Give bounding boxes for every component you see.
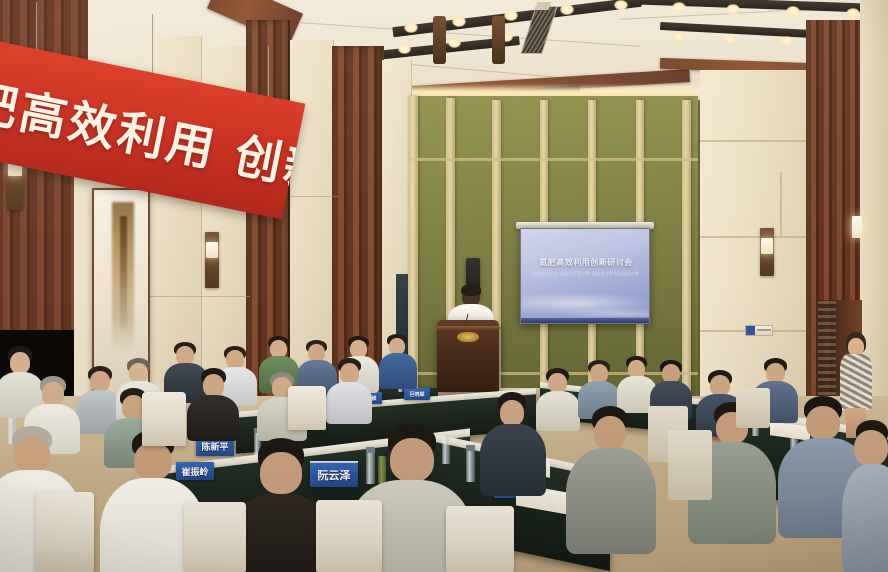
attendee-head bbox=[203, 374, 224, 397]
slide-subtitle: 中国农业大学 资源与环境学院 国家农业绿色发展研究院 bbox=[521, 271, 650, 277]
attendee-head bbox=[500, 400, 524, 426]
attendee-head bbox=[260, 452, 302, 494]
downlight bbox=[504, 10, 518, 21]
slide-wave-graphic bbox=[520, 283, 650, 317]
placard-name: 巨晓棠 bbox=[409, 391, 424, 398]
downlight bbox=[846, 8, 860, 19]
banner-rope bbox=[152, 14, 153, 76]
stone-seam bbox=[780, 172, 782, 238]
attendee-head bbox=[390, 438, 434, 482]
attendee-head bbox=[766, 363, 785, 383]
attendee-head bbox=[340, 363, 359, 384]
attendee-torso bbox=[187, 395, 239, 441]
downlight bbox=[448, 38, 461, 48]
attendee-head bbox=[134, 442, 172, 480]
slide-bottom-bar bbox=[521, 318, 650, 323]
speaker-hair bbox=[461, 284, 481, 296]
air-vent-frame bbox=[535, 2, 552, 10]
attendee bbox=[620, 356, 654, 412]
attendee-foreground bbox=[848, 420, 888, 572]
attendee-head bbox=[806, 406, 840, 440]
attendee-head bbox=[90, 371, 110, 392]
attendee bbox=[382, 334, 414, 388]
attendee-torso bbox=[480, 424, 546, 496]
downlight bbox=[404, 22, 418, 33]
slide-title: 氮肥高效利用创新研讨会 bbox=[521, 257, 650, 268]
stone-seam bbox=[700, 236, 808, 238]
projection-screen: 氮肥高效利用创新研讨会 中国农业大学 资源与环境学院 国家农业绿色发展研究院 2… bbox=[520, 228, 650, 324]
attendee-head bbox=[854, 430, 888, 466]
wall-sconce-plate bbox=[205, 232, 219, 288]
downlight bbox=[672, 32, 685, 42]
attendee-foreground bbox=[236, 438, 322, 572]
attendee bbox=[486, 392, 538, 492]
downlight bbox=[724, 34, 737, 44]
downlight bbox=[726, 4, 740, 15]
chair bbox=[184, 502, 246, 572]
wall-rib bbox=[682, 100, 691, 396]
attendee-head bbox=[129, 363, 148, 383]
attendee-torso bbox=[536, 391, 580, 431]
attendee-head bbox=[710, 375, 730, 396]
podium bbox=[437, 320, 499, 392]
attendee-head bbox=[10, 352, 30, 374]
attendee-head bbox=[548, 373, 567, 393]
attendee bbox=[192, 368, 234, 438]
attendee-head bbox=[14, 436, 50, 472]
podium-side bbox=[492, 16, 505, 64]
wall-band bbox=[408, 158, 698, 161]
slide-footer: 2017年8月 bbox=[521, 303, 650, 308]
attendee-torso bbox=[326, 382, 372, 424]
downlight bbox=[398, 44, 411, 54]
bottle-cap bbox=[466, 445, 475, 451]
banner-rope bbox=[36, 2, 37, 50]
placard-name: 阮云泽 bbox=[318, 467, 351, 483]
attendee-torso bbox=[842, 464, 888, 572]
attendee bbox=[540, 368, 576, 428]
attendee-foreground bbox=[576, 406, 642, 546]
attendee-torso bbox=[379, 353, 417, 389]
chair bbox=[668, 430, 712, 500]
chair bbox=[736, 388, 770, 428]
downlight bbox=[786, 6, 800, 17]
attendee-torso bbox=[566, 448, 656, 554]
attendee-head bbox=[42, 382, 64, 406]
downlight bbox=[560, 4, 574, 15]
chair bbox=[316, 500, 382, 572]
attendee-foreground bbox=[112, 430, 192, 572]
chair bbox=[288, 386, 326, 430]
wall-sconce-light bbox=[206, 242, 218, 258]
podium-emblem bbox=[457, 332, 479, 342]
chair bbox=[36, 492, 94, 572]
chair bbox=[142, 392, 186, 446]
stone-seam bbox=[150, 296, 250, 297]
name-placard: 巨晓棠 bbox=[404, 388, 430, 400]
exit-sign-text bbox=[757, 329, 771, 331]
attendee-head bbox=[594, 416, 626, 450]
downlight bbox=[780, 36, 793, 46]
stone-seam bbox=[290, 196, 338, 197]
chair bbox=[446, 506, 514, 572]
photo-scene: 肥高效利用 创新研讨会 氮肥高效利用创新研讨会 中国农业大学 资源与环境学院 国… bbox=[0, 0, 888, 572]
downlight bbox=[614, 0, 628, 10]
wall-sconce-light bbox=[852, 216, 862, 238]
podium-side bbox=[433, 16, 446, 64]
downlight bbox=[672, 2, 686, 13]
stone-seam bbox=[700, 140, 808, 142]
exit-sign-icon bbox=[746, 326, 755, 335]
artwork-ink bbox=[120, 216, 127, 336]
wall-sconce-light bbox=[761, 238, 773, 254]
attendee bbox=[330, 358, 368, 420]
placard-name: 陈新平 bbox=[201, 440, 228, 453]
water-bottle bbox=[466, 450, 475, 482]
downlight bbox=[452, 16, 466, 27]
podium-top-ledge bbox=[436, 326, 500, 330]
